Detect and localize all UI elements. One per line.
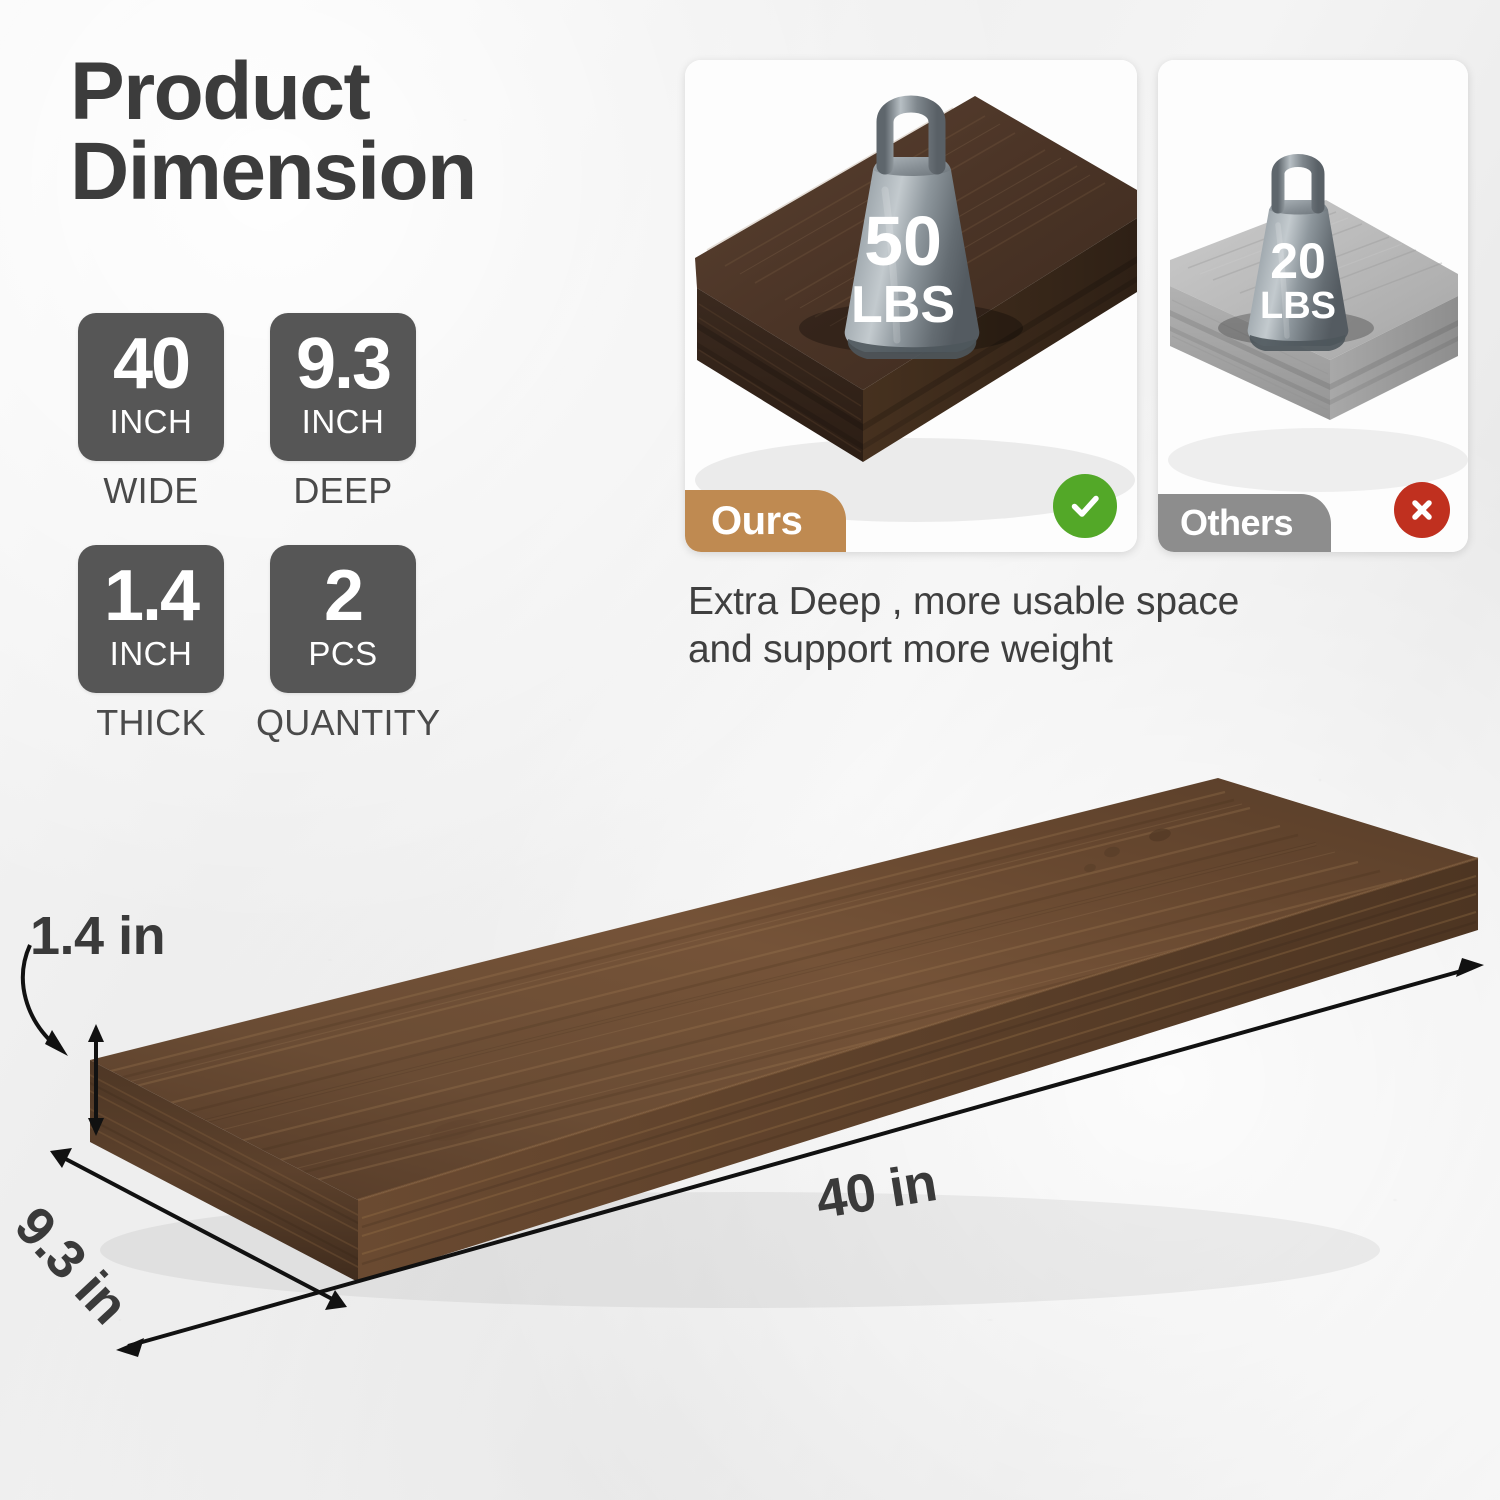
spec-badge-box: 1.4 INCH [78,545,224,693]
spec-value: 2 [324,564,362,629]
card-tag-others: Others [1158,494,1331,552]
spec-unit: PCS [308,637,377,670]
shelf-diagram [0,730,1500,1380]
spec-caption: WIDE [78,470,224,512]
spec-badge-thick: 1.4 INCH THICK [78,545,224,744]
spec-unit: INCH [302,405,385,438]
spec-badge-deep: 9.3 INCH DEEP [270,313,416,512]
weight-value-ours: 50 [864,202,942,280]
card-image-others: 20 LBS [1158,60,1468,552]
spec-value: 1.4 [104,564,198,629]
title-line-2: Dimension [70,132,670,212]
caption-line-2: and support more weight [688,626,1328,674]
spec-unit: INCH [110,405,193,438]
spec-caption: DEEP [270,470,416,512]
caption-line-1: Extra Deep , more usable space [688,578,1328,626]
spec-badge-box: 2 PCS [270,545,416,693]
comparison-card-ours: 50 LBS Ours [685,60,1137,552]
spec-badge-box: 9.3 INCH [270,313,416,461]
spec-value: 40 [113,332,189,397]
cross-icon [1394,482,1450,538]
spec-badge-wide: 40 INCH WIDE [78,313,224,512]
page-title: Product Dimension [70,52,670,211]
card-tag-ours: Ours [685,490,846,552]
weight-unit-ours: LBS [851,276,955,334]
others-illustration: 20 LBS [1158,60,1468,552]
comparison-caption: Extra Deep , more usable space and suppo… [688,578,1328,673]
weight-value-others: 20 [1270,233,1326,289]
shelf-3d-illustration [0,730,1500,1380]
check-icon [1053,474,1117,538]
spec-unit: INCH [110,637,193,670]
infographic-canvas: Product Dimension 40 INCH WIDE 9.3 INCH … [0,0,1500,1500]
spec-badge-box: 40 INCH [78,313,224,461]
spec-value: 9.3 [296,332,390,397]
thickness-leader-head [45,1030,68,1056]
comparison-card-others: 20 LBS Others [1158,60,1468,552]
card-tag-label: Others [1180,502,1293,544]
weight-unit-others: LBS [1260,285,1336,327]
card-tag-label: Ours [711,499,802,544]
dimension-label-thickness: 1.4 in [30,905,165,967]
spec-badge-quantity: 2 PCS QUANTITY [270,545,440,744]
title-line-1: Product [70,52,670,132]
